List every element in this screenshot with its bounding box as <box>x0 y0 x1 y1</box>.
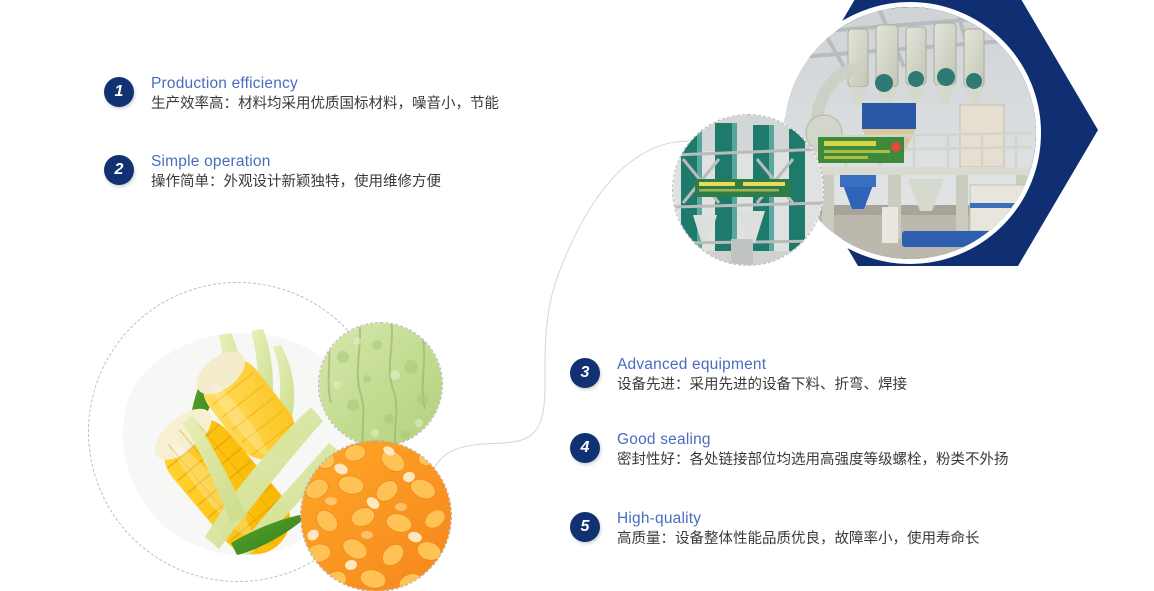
feature-text-1: Production efficiency 生产效率高：材料均采用优质国标材料，… <box>151 74 499 115</box>
feature-text-3: Advanced equipment 设备先进：采用先进的设备下料、折弯、焊接 <box>617 355 907 396</box>
orange-corn-kernels-photo <box>300 440 452 591</box>
feature-item-2[interactable]: 2 Simple operation 操作简单：外观设计新颖独特，使用维修方便 <box>104 152 441 193</box>
feature-badge-2: 2 <box>104 155 134 185</box>
green-machinery-line-photo <box>673 115 823 265</box>
feature-title-4: Good sealing <box>617 430 1009 449</box>
feature-infographic-page: 1 Production efficiency 生产效率高：材料均采用优质国标材… <box>0 0 1154 591</box>
feature-text-4: Good sealing 密封性好：各处链接部位均选用高强度等级螺栓，粉类不外扬 <box>617 430 1009 471</box>
feature-title-2: Simple operation <box>151 152 441 171</box>
feature-item-5[interactable]: 5 High-quality 高质量：设备整体性能品质优良，故障率小，使用寿命长 <box>570 509 980 550</box>
feature-item-1[interactable]: 1 Production efficiency 生产效率高：材料均采用优质国标材… <box>104 74 499 115</box>
feature-description-1: 生产效率高：材料均采用优质国标材料，噪音小，节能 <box>151 94 499 115</box>
feature-item-4[interactable]: 4 Good sealing 密封性好：各处链接部位均选用高强度等级螺栓，粉类不… <box>570 430 1009 471</box>
feature-text-2: Simple operation 操作简单：外观设计新颖独特，使用维修方便 <box>151 152 441 193</box>
feature-badge-4: 4 <box>570 433 600 463</box>
feature-description-4: 密封性好：各处链接部位均选用高强度等级螺栓，粉类不外扬 <box>617 450 1009 471</box>
hexagon-photo-group <box>660 0 1154 290</box>
hexagon-secondary-photo <box>672 114 824 266</box>
feature-description-5: 高质量：设备整体性能品质优良，故障率小，使用寿命长 <box>617 529 980 550</box>
feature-badge-3: 3 <box>570 358 600 388</box>
feature-description-3: 设备先进：采用先进的设备下料、折弯、焊接 <box>617 375 907 396</box>
feature-title-3: Advanced equipment <box>617 355 907 374</box>
green-corn-paste-photo <box>318 322 443 447</box>
feature-badge-1: 1 <box>104 77 134 107</box>
flour-milling-plant-photo <box>784 7 1036 259</box>
feature-description-2: 操作简单：外观设计新颖独特，使用维修方便 <box>151 172 441 193</box>
feature-text-5: High-quality 高质量：设备整体性能品质优良，故障率小，使用寿命长 <box>617 509 980 550</box>
hexagon-main-photo <box>779 2 1041 264</box>
feature-badge-5: 5 <box>570 512 600 542</box>
feature-item-3[interactable]: 3 Advanced equipment 设备先进：采用先进的设备下料、折弯、焊… <box>570 355 907 396</box>
feature-title-5: High-quality <box>617 509 980 528</box>
feature-title-1: Production efficiency <box>151 74 499 93</box>
corn-photo-group <box>88 282 488 591</box>
